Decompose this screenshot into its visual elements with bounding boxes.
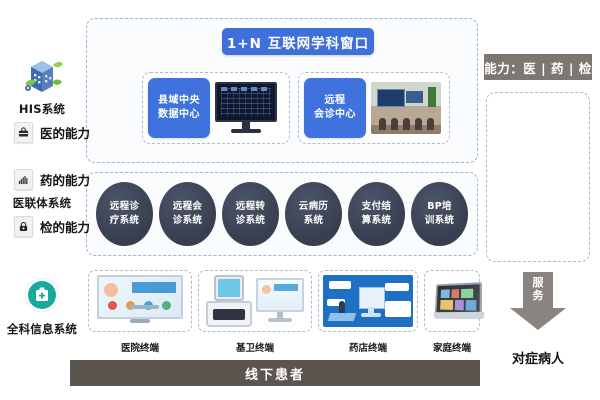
kiosk-terminal	[206, 275, 252, 327]
capability-item-pharmacy[interactable]: 药的能力	[14, 169, 90, 190]
capability-label: 药的能力	[40, 170, 90, 189]
terminal-label-home: 家庭终端	[424, 340, 480, 354]
terminal-label-hospital: 医院终端	[88, 340, 192, 354]
medical-bag-icon	[14, 122, 33, 143]
target-patient-label: 对症病人	[484, 348, 592, 367]
server-monitor-photo	[215, 82, 277, 134]
left-rail: HIS系统 医联体系统 全科信息系统	[0, 0, 84, 400]
node-line2: 疗系统	[110, 214, 139, 228]
lock-icon	[14, 216, 33, 237]
medical-union-node-row: 远程诊 疗系统 远程会 诊系统 远程转 诊系统 云病历 系统 支付结 算系统 B…	[96, 180, 468, 248]
rail-item-his[interactable]: HIS系统	[0, 52, 84, 117]
pharmacy-illustration-terminal	[323, 275, 413, 327]
node-line1: 远程诊	[110, 200, 139, 214]
union-node-bp-training[interactable]: BP培 训系统	[411, 182, 468, 246]
county-data-center-chip[interactable]: 县域中央 数据中心	[148, 78, 210, 138]
rail-item-label: 医联体系统	[0, 195, 84, 211]
service-arrow: 服 务	[510, 272, 566, 330]
union-node-remote-consultation[interactable]: 远程会 诊系统	[159, 182, 216, 246]
capability-label: 检的能力	[40, 217, 90, 236]
his-card-county-data-center[interactable]: 县域中央 数据中心	[142, 72, 290, 144]
tablet-terminal	[429, 279, 475, 323]
offline-patient-bar: 线下患者	[70, 360, 480, 386]
union-node-cloud-records[interactable]: 云病历 系统	[285, 182, 342, 246]
union-node-remote-diagnosis[interactable]: 远程诊 疗系统	[96, 182, 153, 246]
terminal-label-pharmacy: 药店终端	[318, 340, 418, 354]
rail-item-label: 全科信息系统	[0, 321, 84, 337]
rail-item-label: HIS系统	[0, 101, 84, 117]
internet-discipline-window-banner[interactable]: 1+N 互联网学科窗口	[222, 28, 374, 55]
rail-item-medical-union[interactable]: 医联体系统	[0, 195, 84, 211]
node-line1: 远程转	[236, 200, 265, 214]
rail-item-general-practice[interactable]: 全科信息系统	[0, 272, 84, 337]
node-line2: 训系统	[425, 214, 454, 228]
union-node-remote-referral[interactable]: 远程转 诊系统	[222, 182, 279, 246]
capability-box	[486, 92, 590, 262]
remote-consultation-chip[interactable]: 远程 会诊中心	[304, 78, 366, 138]
green-badge-icon	[0, 272, 84, 318]
terminal-card-hospital[interactable]	[88, 270, 192, 332]
diagram-canvas: HIS系统 医联体系统 全科信息系统 1+N 互联网学科窗口	[0, 0, 600, 400]
node-line2: 诊系统	[236, 214, 265, 228]
hospital-tv-terminal	[97, 275, 183, 327]
terminal-card-primary-health[interactable]	[198, 270, 312, 332]
node-line1: 支付结	[362, 200, 391, 214]
chip-line2: 数据中心	[158, 108, 200, 123]
capability-label: 医的能力	[40, 123, 90, 142]
node-line1: 远程会	[173, 200, 202, 214]
chip-line1: 县域中央	[158, 94, 200, 109]
bar-chart-icon	[14, 169, 33, 190]
node-line1: BP培	[427, 200, 452, 214]
capability-header: 能力：医 | 药 | 检	[484, 54, 592, 80]
conference-room-photo	[371, 82, 441, 134]
his-card-remote-consultation-center[interactable]: 远程 会诊中心	[298, 72, 450, 144]
terminal-label-primary-health: 基卫终端	[198, 340, 312, 354]
node-line1: 云病历	[299, 200, 328, 214]
chip-line2: 会诊中心	[314, 108, 356, 123]
desktop-monitor-terminal	[256, 278, 304, 324]
isometric-hospital-icon	[0, 52, 84, 98]
terminal-card-home[interactable]	[424, 270, 480, 332]
capability-item-examination[interactable]: 检的能力	[14, 216, 90, 237]
node-line2: 系统	[304, 214, 324, 228]
terminal-card-pharmacy[interactable]	[318, 270, 418, 332]
node-line2: 算系统	[362, 214, 391, 228]
node-line2: 诊系统	[173, 214, 202, 228]
chip-line1: 远程	[325, 94, 346, 109]
service-arrow-label-line2: 务	[533, 290, 544, 303]
capability-item-medical[interactable]: 医的能力	[14, 122, 90, 143]
union-node-payment-settlement[interactable]: 支付结 算系统	[348, 182, 405, 246]
